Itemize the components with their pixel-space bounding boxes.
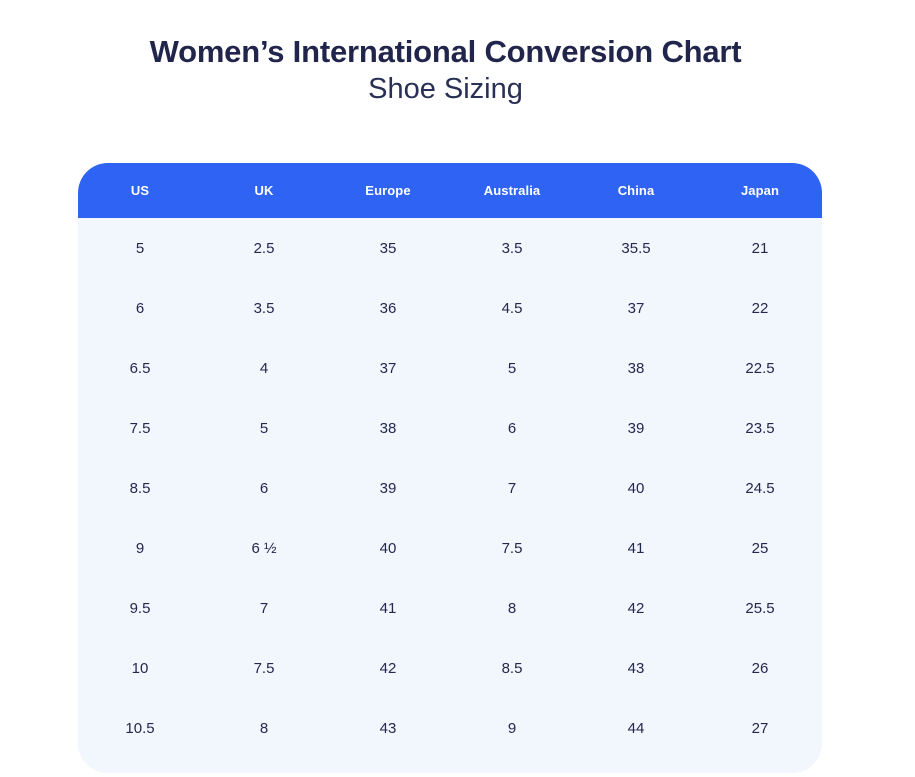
table-cell-us: 9 xyxy=(78,518,202,578)
table-cell-china: 40 xyxy=(574,458,698,518)
table-cell-australia: 8.5 xyxy=(450,638,574,698)
column-header-australia[interactable]: Australia xyxy=(450,163,574,218)
column-header-uk[interactable]: UK xyxy=(202,163,326,218)
column-header-us[interactable]: US xyxy=(78,163,202,218)
table-cell-australia: 5 xyxy=(450,338,574,398)
table-body: 52.5353.535.52163.5364.537226.543753822.… xyxy=(78,218,822,758)
table-cell-europe: 35 xyxy=(326,218,450,278)
table-cell-japan: 25.5 xyxy=(698,578,822,638)
table-cell-japan: 25 xyxy=(698,518,822,578)
table-cell-australia: 7 xyxy=(450,458,574,518)
table-cell-uk: 6 ½ xyxy=(202,518,326,578)
table-cell-europe: 41 xyxy=(326,578,450,638)
table-row: 6.543753822.5 xyxy=(78,338,822,398)
table-cell-china: 38 xyxy=(574,338,698,398)
table-cell-europe: 38 xyxy=(326,398,450,458)
table-cell-japan: 22 xyxy=(698,278,822,338)
table-cell-china: 44 xyxy=(574,698,698,758)
table-header-row: USUKEuropeAustraliaChinaJapan xyxy=(78,163,822,218)
card-bottom-padding xyxy=(78,758,822,773)
table-row: 107.5428.54326 xyxy=(78,638,822,698)
conversion-table-card: USUKEuropeAustraliaChinaJapan 52.5353.53… xyxy=(78,163,822,773)
table-row: 9.574184225.5 xyxy=(78,578,822,638)
table-cell-china: 42 xyxy=(574,578,698,638)
table-cell-europe: 37 xyxy=(326,338,450,398)
column-header-japan[interactable]: Japan xyxy=(698,163,822,218)
table-cell-uk: 5 xyxy=(202,398,326,458)
table-row: 52.5353.535.521 xyxy=(78,218,822,278)
table-cell-australia: 6 xyxy=(450,398,574,458)
table-cell-australia: 3.5 xyxy=(450,218,574,278)
table-cell-japan: 21 xyxy=(698,218,822,278)
page-subtitle: Shoe Sizing xyxy=(0,72,891,107)
table-cell-us: 10 xyxy=(78,638,202,698)
table-cell-uk: 4 xyxy=(202,338,326,398)
table-cell-us: 6 xyxy=(78,278,202,338)
table-cell-us: 10.5 xyxy=(78,698,202,758)
shoe-size-conversion-page: Women’s International Conversion Chart S… xyxy=(0,0,915,777)
table-cell-uk: 8 xyxy=(202,698,326,758)
table-cell-china: 43 xyxy=(574,638,698,698)
page-heading: Women’s International Conversion Chart S… xyxy=(0,0,915,107)
page-title: Women’s International Conversion Chart xyxy=(0,34,891,70)
table-cell-europe: 40 xyxy=(326,518,450,578)
table-cell-europe: 43 xyxy=(326,698,450,758)
table-header: USUKEuropeAustraliaChinaJapan xyxy=(78,163,822,218)
table-cell-japan: 26 xyxy=(698,638,822,698)
table-cell-china: 35.5 xyxy=(574,218,698,278)
table-cell-europe: 36 xyxy=(326,278,450,338)
table-cell-us: 9.5 xyxy=(78,578,202,638)
table-cell-australia: 7.5 xyxy=(450,518,574,578)
table-cell-china: 41 xyxy=(574,518,698,578)
table-row: 96 ½407.54125 xyxy=(78,518,822,578)
column-header-china[interactable]: China xyxy=(574,163,698,218)
table-cell-japan: 27 xyxy=(698,698,822,758)
table-cell-china: 39 xyxy=(574,398,698,458)
table-cell-us: 5 xyxy=(78,218,202,278)
table-cell-australia: 8 xyxy=(450,578,574,638)
table-row: 8.563974024.5 xyxy=(78,458,822,518)
table-cell-europe: 39 xyxy=(326,458,450,518)
table-cell-uk: 6 xyxy=(202,458,326,518)
table-row: 7.553863923.5 xyxy=(78,398,822,458)
table-cell-australia: 9 xyxy=(450,698,574,758)
shoe-size-conversion-table: USUKEuropeAustraliaChinaJapan 52.5353.53… xyxy=(78,163,822,758)
table-cell-uk: 3.5 xyxy=(202,278,326,338)
table-cell-uk: 2.5 xyxy=(202,218,326,278)
table-cell-australia: 4.5 xyxy=(450,278,574,338)
table-cell-us: 6.5 xyxy=(78,338,202,398)
table-cell-uk: 7 xyxy=(202,578,326,638)
table-cell-japan: 23.5 xyxy=(698,398,822,458)
column-header-europe[interactable]: Europe xyxy=(326,163,450,218)
table-cell-europe: 42 xyxy=(326,638,450,698)
table-cell-us: 7.5 xyxy=(78,398,202,458)
table-cell-japan: 24.5 xyxy=(698,458,822,518)
table-cell-uk: 7.5 xyxy=(202,638,326,698)
table-row: 63.5364.53722 xyxy=(78,278,822,338)
table-row: 10.584394427 xyxy=(78,698,822,758)
table-cell-china: 37 xyxy=(574,278,698,338)
table-cell-japan: 22.5 xyxy=(698,338,822,398)
table-cell-us: 8.5 xyxy=(78,458,202,518)
